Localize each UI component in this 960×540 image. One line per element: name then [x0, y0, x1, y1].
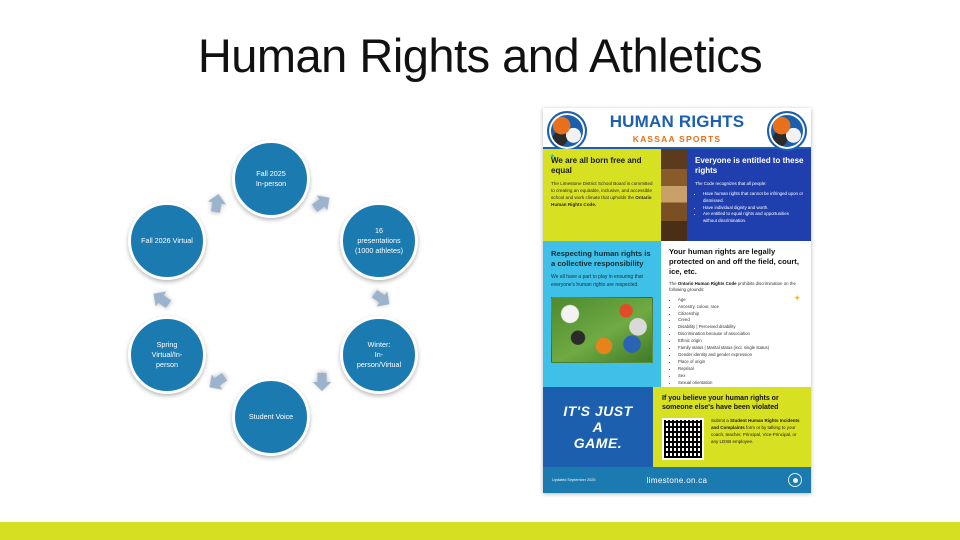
poster-row-bottom: IT'S JUST A GAME. If you believe your hu… [543, 387, 811, 467]
poster-website-url: limestone.on.ca [543, 476, 811, 485]
kassaa-logo-icon [547, 111, 587, 151]
protected-lead: The Ontario Human Rights Code prohibits … [669, 281, 804, 294]
respecting-body: We all have a part to play in ensuring t… [551, 274, 653, 290]
cycle-node-winter[interactable]: Winter: In- person/Virtual [340, 316, 418, 394]
cycle-node-line3: person/Virtual [357, 360, 401, 370]
page-title: Human Rights and Athletics [0, 28, 960, 83]
complaint-body: Submit a Student Human Rights Incidents … [711, 418, 803, 460]
list-item: Are entitled to equal rights and opportu… [703, 211, 804, 225]
list-item: Sexual orientation [678, 380, 804, 387]
track-athletes-photo [661, 149, 687, 241]
panel-protected: Your human rights are legally protected … [661, 241, 811, 387]
list-item: Creed [678, 317, 804, 324]
sports-equipment-photo [551, 297, 653, 363]
sparkle-icon: ✦ [549, 152, 556, 161]
entitled-bullets: Have human rights that cannot be infring… [695, 191, 804, 225]
complaint-heading: If you believe your human rights or some… [662, 394, 803, 412]
entitled-heading: Everyone is entitled to these rights [695, 156, 804, 176]
cycle-arrow-icon [204, 190, 229, 215]
cycle-node-line1: Spring [152, 340, 183, 350]
panel-born-free: ✦ We are all born free and equal The Lim… [543, 149, 661, 241]
protected-grounds-list: Age Ancestry, colour, race Citizenship C… [669, 297, 804, 387]
cycle-arrow-icon [146, 284, 177, 315]
list-item: Have individual dignity and worth. [703, 205, 804, 212]
cycle-node-line1: Student Voice [249, 412, 293, 422]
panel-complaint: If you believe your human rights or some… [653, 387, 811, 467]
list-item: Have human rights that cannot be infring… [703, 191, 804, 205]
limestone-mark-icon [788, 473, 802, 487]
cycle-node-presentations[interactable]: 16 presentations (1000 athletes) [340, 202, 418, 280]
respecting-heading: Respecting human rights is a collective … [551, 249, 653, 269]
cycle-node-fall-2026[interactable]: Fall 2026 Virtual [128, 202, 206, 280]
poster-subtitle: KASSAA SPORTS [610, 134, 745, 144]
cycle-node-line2: In-person [256, 179, 286, 189]
poster-row-middle: Respecting human rights is a collective … [543, 241, 811, 387]
qr-code-icon[interactable] [662, 418, 704, 460]
panel-just-a-game: IT'S JUST A GAME. [543, 387, 653, 467]
list-item: Citizenship [678, 311, 804, 318]
list-item: Discrimination because of association [678, 331, 804, 338]
list-item: Place of origin [678, 359, 804, 366]
cycle-arrow-icon [202, 367, 233, 398]
slide-canvas: Human Rights and Athletics Fall 2025 In-… [0, 0, 960, 540]
protected-lead-bold: Ontario Human Rights Code [678, 281, 737, 286]
cycle-node-student-voice[interactable]: Student Voice [232, 378, 310, 456]
list-item: Family status | Marital status (incl. si… [678, 345, 804, 352]
cycle-arrow-icon [311, 371, 333, 393]
cycle-diagram: Fall 2025 In-person 16 presentations (10… [118, 140, 448, 465]
list-item: Sex [678, 373, 804, 380]
cycle-arrow-icon [367, 284, 398, 315]
cycle-node-line1: Fall 2026 Virtual [141, 236, 193, 246]
cycle-node-line3: person [152, 360, 183, 370]
sparkle-icon: ✦ [793, 293, 801, 304]
protected-heading: Your human rights are legally protected … [669, 247, 804, 277]
just-a-game-line3: GAME. [563, 435, 632, 451]
entitled-lead: The Code recognizes that all people: [695, 181, 804, 188]
poster-title: HUMAN RIGHTS [610, 112, 745, 132]
poster-row-top: ✦ We are all born free and equal The Lim… [543, 149, 811, 241]
poster-header: HUMAN RIGHTS KASSAA SPORTS [543, 108, 811, 149]
cycle-arrow-icon [307, 188, 338, 219]
cycle-node-line2: presentations [355, 236, 403, 246]
list-item: Reprisal [678, 366, 804, 373]
poster-footer: Updated September 2025 limestone.on.ca [543, 467, 811, 493]
born-free-heading: We are all born free and equal [551, 156, 654, 176]
bottom-accent-bar [0, 522, 960, 540]
list-item: Disability | Perceived disability [678, 324, 804, 331]
list-item: Ethnic origin [678, 338, 804, 345]
list-item: Gender identity and gender expression [678, 352, 804, 359]
list-item: Age [678, 297, 804, 304]
cycle-node-line1: Fall 2025 [256, 169, 286, 179]
complaint-body-pre: Submit a [711, 418, 730, 423]
panel-respecting: Respecting human rights is a collective … [543, 241, 661, 387]
panel-entitled: Everyone is entitled to these rights The… [687, 149, 811, 241]
cycle-node-fall-2025[interactable]: Fall 2025 In-person [232, 140, 310, 218]
born-free-body: The Limestone District School Board is c… [551, 181, 654, 209]
just-a-game-line1: IT'S JUST [563, 403, 632, 419]
cycle-node-line1: Winter: [357, 340, 401, 350]
cycle-node-line2: Virtual/In- [152, 350, 183, 360]
cycle-node-line2: In- [357, 350, 401, 360]
human-rights-poster: HUMAN RIGHTS KASSAA SPORTS ✦ We are all … [543, 108, 811, 493]
cycle-node-line1: 16 [355, 226, 403, 236]
cycle-node-spring[interactable]: Spring Virtual/In- person [128, 316, 206, 394]
just-a-game-line2: A [563, 419, 632, 435]
cycle-node-line3: (1000 athletes) [355, 246, 403, 256]
protected-lead-pre: The [669, 281, 678, 286]
list-item: Ancestry, colour, race [678, 304, 804, 311]
poster-body: ✦ We are all born free and equal The Lim… [543, 149, 811, 493]
kassaa-logo-icon [767, 111, 807, 151]
